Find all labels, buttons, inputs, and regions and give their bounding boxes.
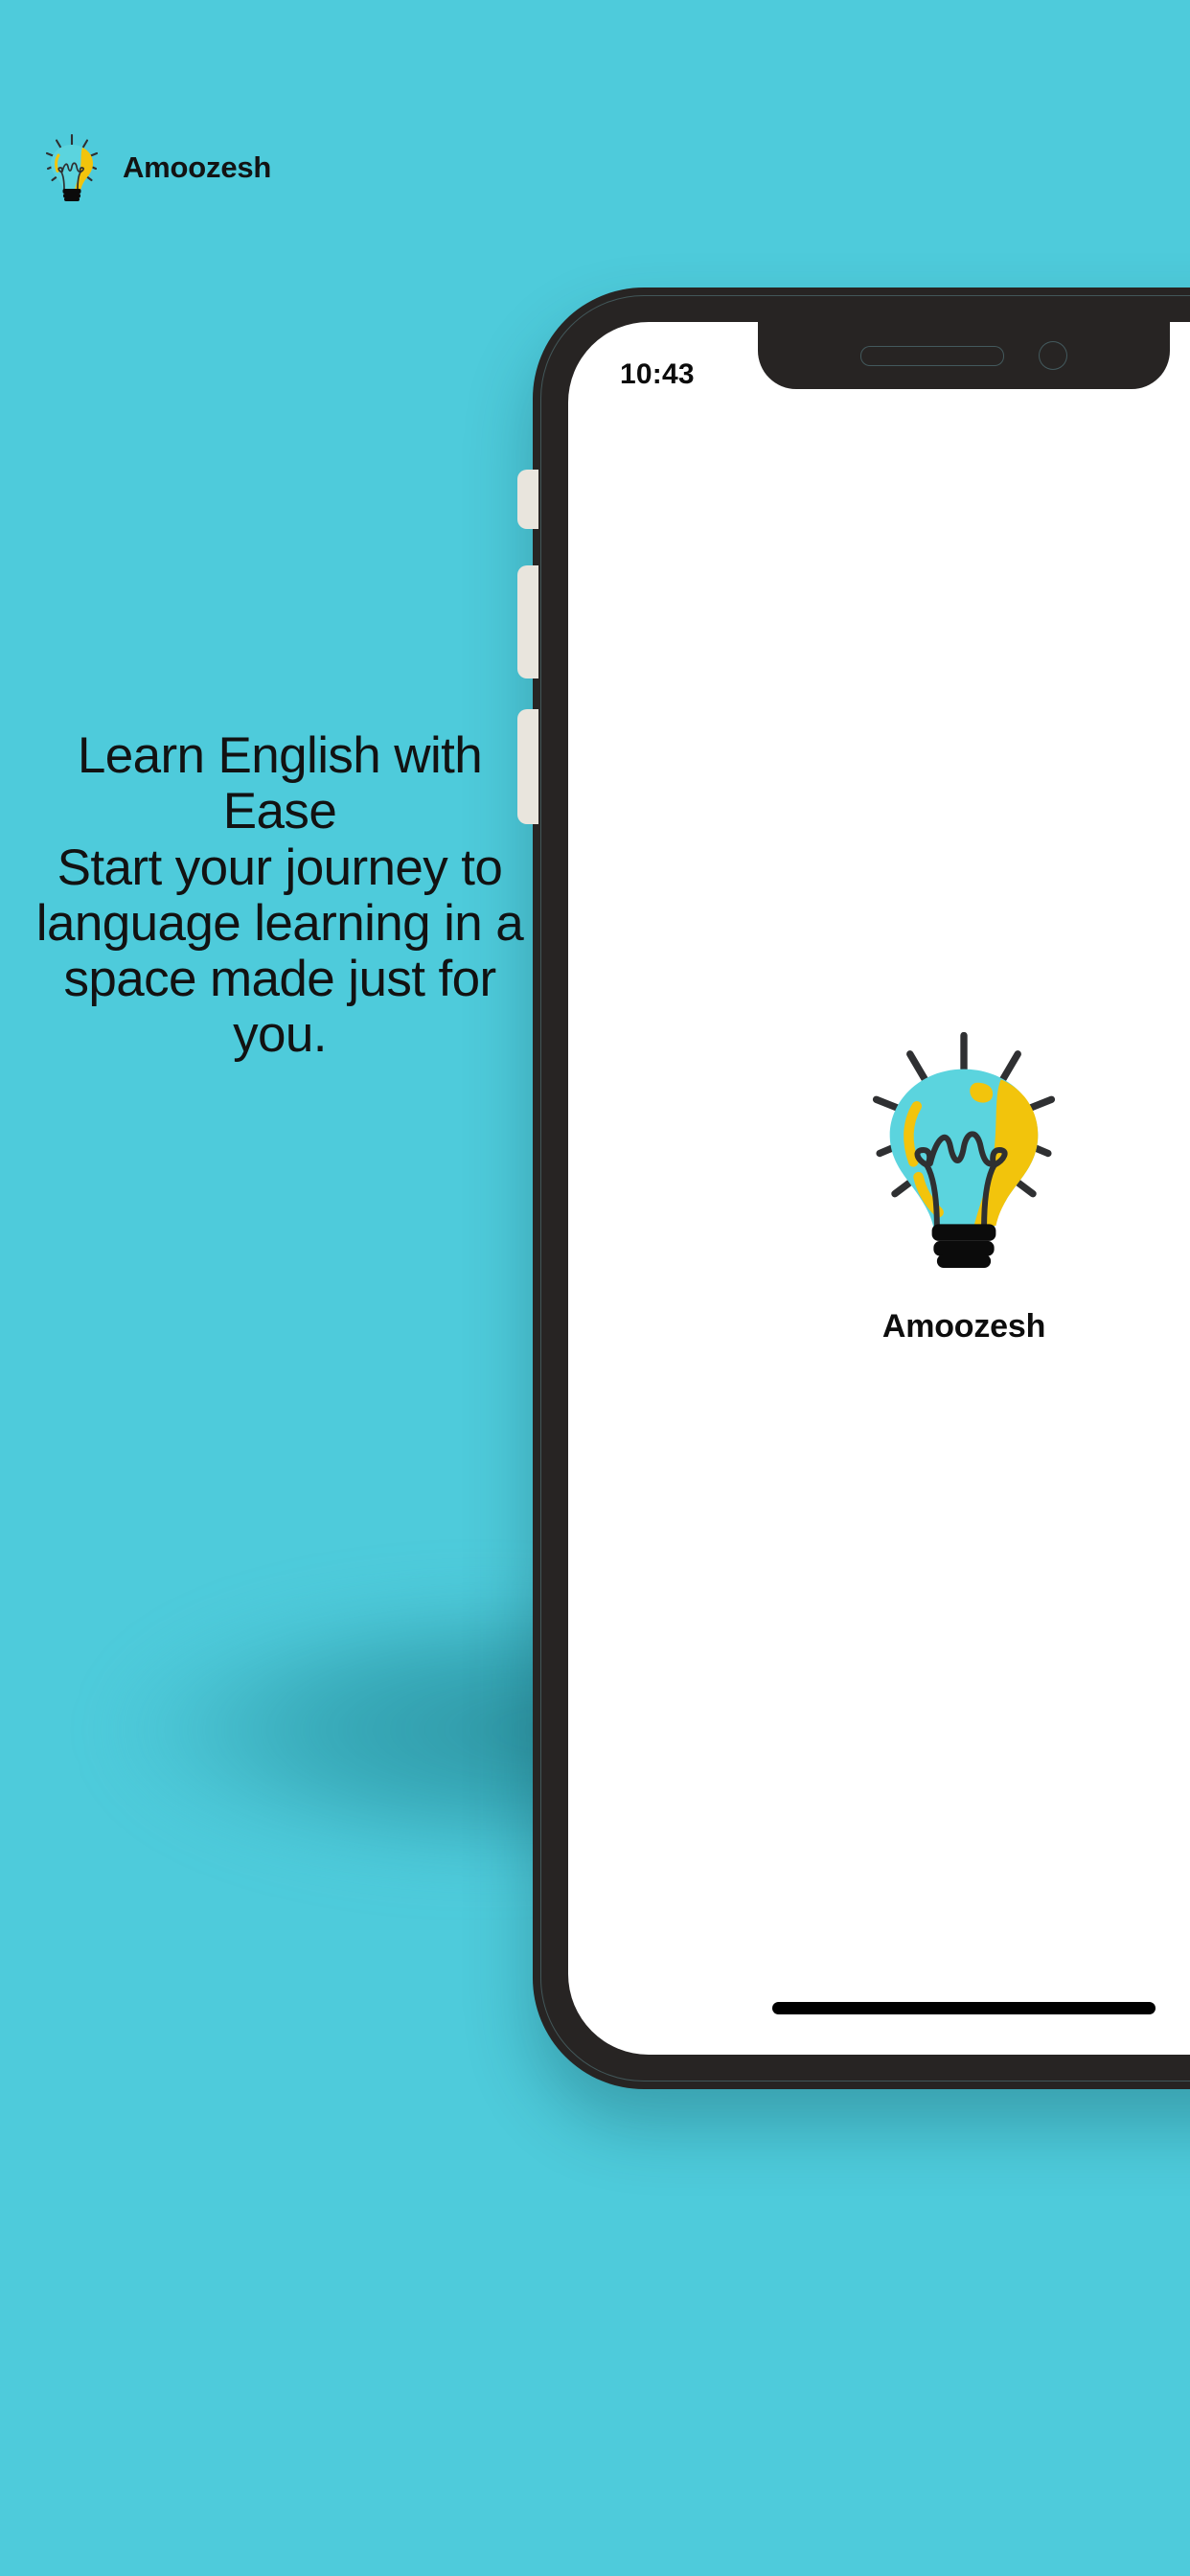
silent-switch[interactable] xyxy=(517,470,538,529)
lightbulb-icon xyxy=(860,1032,1067,1268)
volume-down-button[interactable] xyxy=(517,709,538,824)
splash-screen: Amoozesh xyxy=(568,322,1190,2055)
front-camera-icon xyxy=(1039,341,1067,370)
app-store-promo-screenshot: Amoozesh Learn English with Ease Start y… xyxy=(0,0,1190,2576)
brand-name: Amoozesh xyxy=(123,150,271,185)
phone-notch xyxy=(758,322,1170,389)
phone-mockup: Amoozesh 10:43 xyxy=(533,287,1190,2089)
speaker-slot-icon xyxy=(860,346,1004,366)
hero-subcopy: Start your journey to language learning … xyxy=(21,840,538,1064)
volume-up-button[interactable] xyxy=(517,565,538,678)
hero-copy: Learn English with Ease Start your journ… xyxy=(21,728,538,1064)
status-bar-clock: 10:43 xyxy=(620,358,695,391)
hero-headline: Learn English with Ease xyxy=(21,728,538,840)
splash-app-name: Amoozesh xyxy=(882,1308,1045,1345)
lightbulb-icon xyxy=(42,134,102,201)
phone-screen: Amoozesh 10:43 xyxy=(568,322,1190,2055)
brand-header: Amoozesh xyxy=(42,134,271,201)
home-indicator-bar[interactable] xyxy=(772,2002,1156,2014)
